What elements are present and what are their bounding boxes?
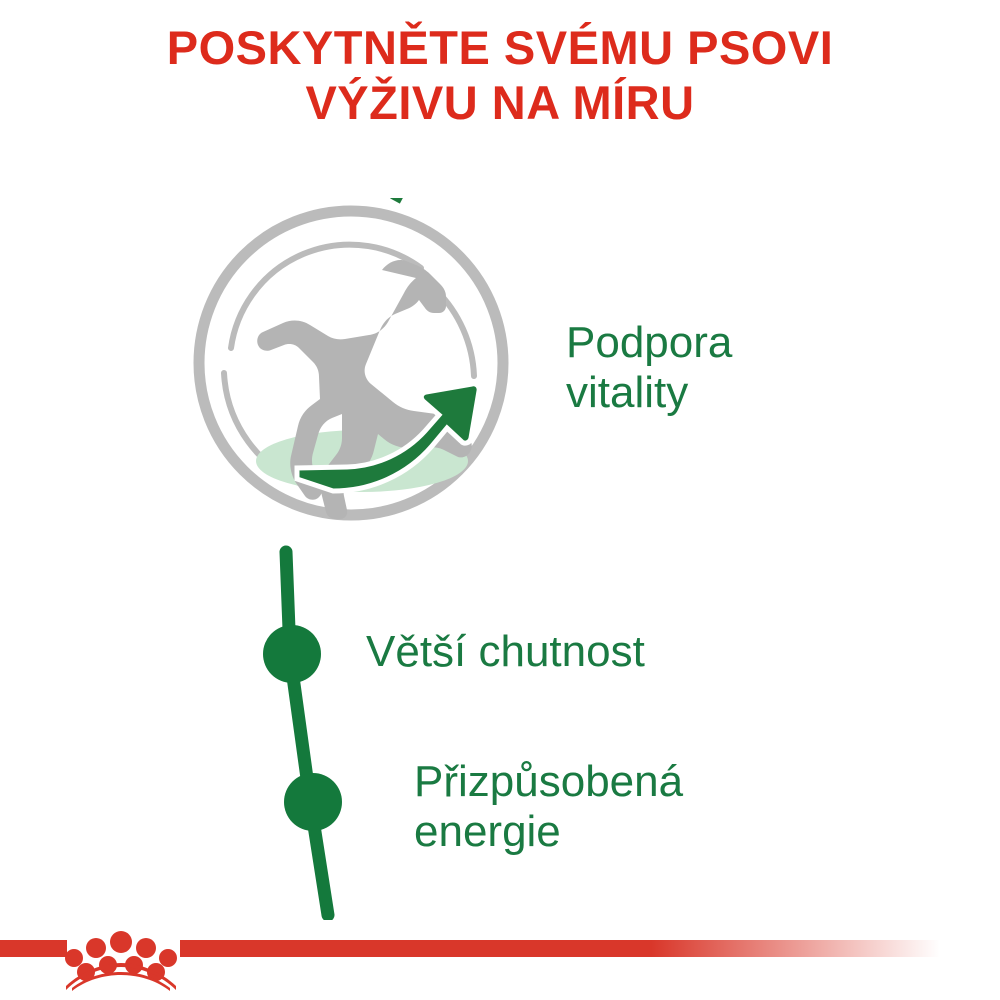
connector-dot-2 [284, 773, 342, 831]
brand-bar-right [180, 940, 940, 957]
feature-label-taste: Větší chutnost [366, 627, 796, 677]
royal-canin-crown-logo [60, 930, 182, 992]
page-title: POSKYTNĚTE SVÉMU PSOVI VÝŽIVU NA MÍRU [0, 20, 1000, 130]
leader-tick-icon [395, 198, 418, 201]
connector-path [240, 530, 420, 920]
brand-footer [0, 930, 1000, 1000]
infographic-canvas: POSKYTNĚTE SVÉMU PSOVI VÝŽIVU NA MÍRU [0, 0, 1000, 1000]
brand-bar-left [0, 940, 67, 957]
connector-line [286, 552, 328, 915]
feature-label-vitality: Podpora vitality [566, 318, 906, 418]
feature-label-energy: Přizpůsobená energie [414, 757, 844, 857]
inner-arc [231, 245, 421, 348]
jumping-dog-in-circle-icon [186, 198, 516, 543]
connector-dot-1 [263, 625, 321, 683]
